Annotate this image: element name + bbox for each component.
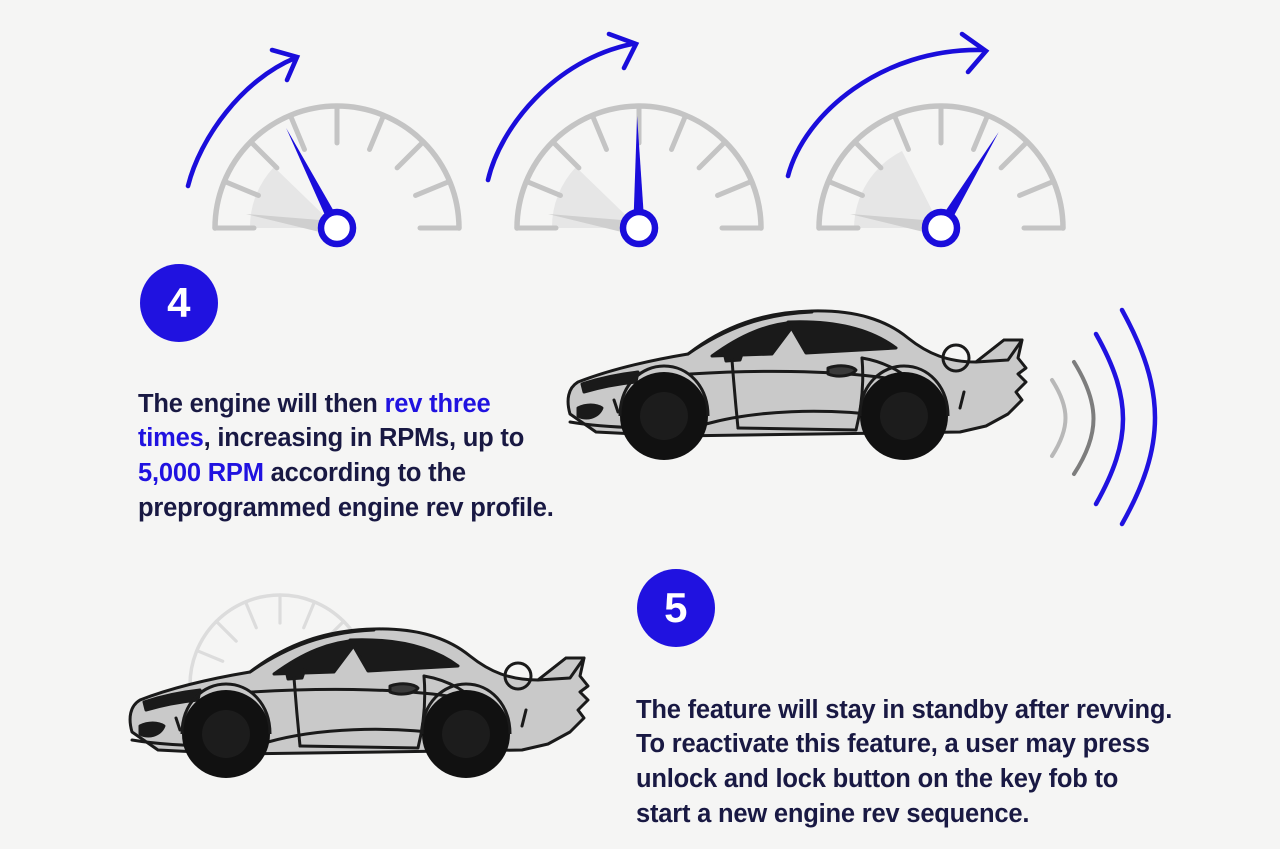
- text-run: The engine will then: [138, 390, 385, 418]
- front-wheel: [620, 372, 708, 460]
- step-badge-4: 4: [140, 264, 218, 342]
- gauge-ticks: [224, 106, 449, 195]
- text-run: , increasing in RPMs, up to: [204, 424, 524, 452]
- gauge-row: [0, 0, 1280, 258]
- step-4-text: The engine will then rev three times, in…: [138, 387, 568, 527]
- step-badge-5: 5: [637, 569, 715, 647]
- sound-waves-icon: [1030, 292, 1190, 532]
- gauge-rev-2: [484, 28, 794, 258]
- sound-arc-2: [1074, 362, 1094, 474]
- sound-arc-4: [1122, 310, 1155, 524]
- gauge-hub: [623, 212, 655, 244]
- sound-arc-1: [1052, 380, 1066, 456]
- step-number-4: 4: [167, 282, 191, 324]
- sound-arc-3: [1096, 334, 1123, 504]
- car-standby: [118, 566, 598, 801]
- gauge-ticks: [828, 106, 1053, 195]
- car-revving: [556, 296, 1036, 481]
- gauge-rev-1: [182, 28, 492, 258]
- front-wheel: [182, 690, 270, 778]
- text-run-highlight: 5,000 RPM: [138, 459, 264, 487]
- gauge-arc-3: [819, 106, 1063, 244]
- step-number-5: 5: [664, 587, 688, 629]
- step-5-text: The feature will stay in standby after r…: [636, 693, 1176, 833]
- rear-wheel: [422, 690, 510, 778]
- gauge-hub: [925, 212, 957, 244]
- gauge-arc-2: [517, 106, 761, 244]
- gauge-arc-1: [215, 106, 459, 244]
- infographic-canvas: 4 The engine will then rev three times, …: [0, 0, 1280, 849]
- rear-wheel: [860, 372, 948, 460]
- gauge-hub: [321, 212, 353, 244]
- gauge-needle: [630, 116, 645, 224]
- gauge-rev-3: [786, 28, 1096, 258]
